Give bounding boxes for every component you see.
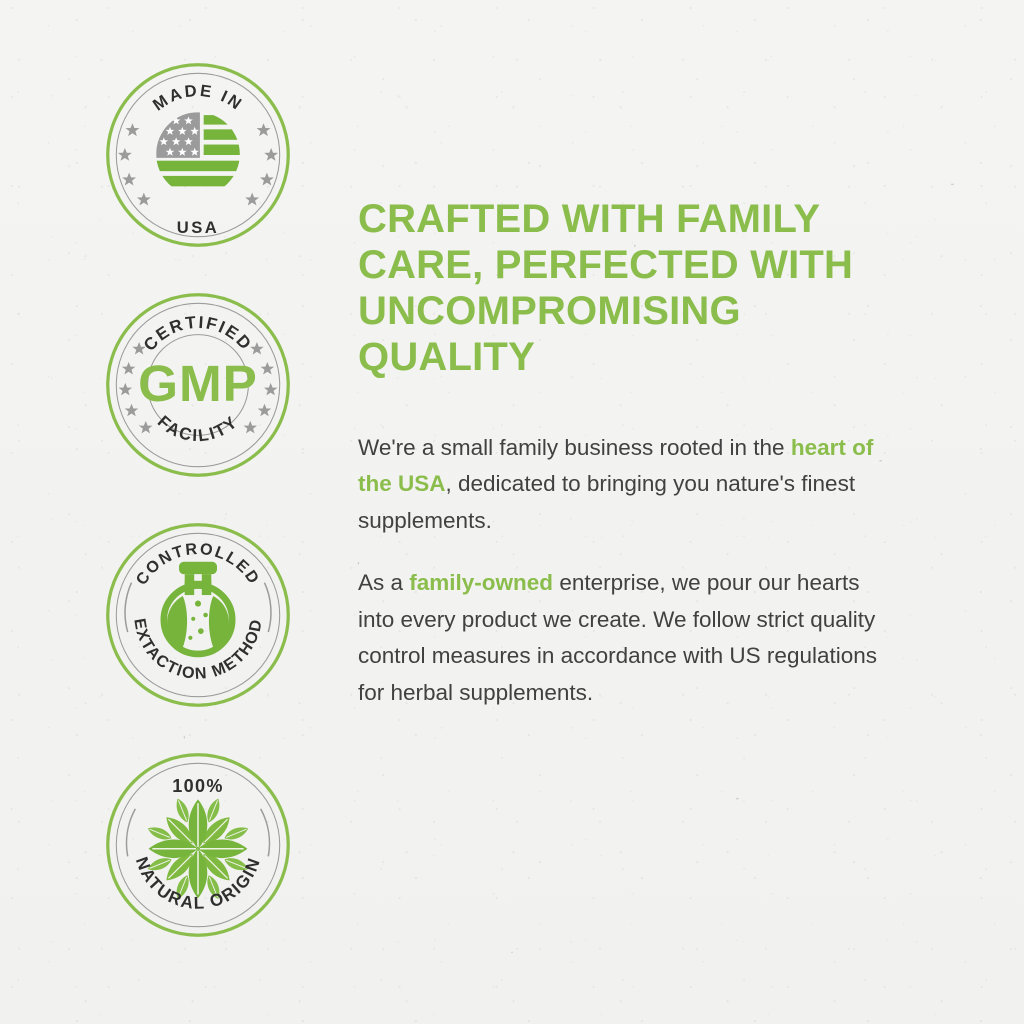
decorative-arc-left <box>125 583 131 632</box>
badge-bottom-label: USA <box>176 218 218 237</box>
headline-line-2: CARE, PERFECTED WITH <box>358 243 853 287</box>
body-copy: We're a small family business rooted in … <box>358 430 918 711</box>
badge-top-label: CERTIFIED <box>139 313 255 355</box>
badge-bottom-label: EXTACTION METHOD <box>130 617 266 683</box>
headline-line-4: QUALITY <box>358 335 535 379</box>
certification-badge-column: MADE IN USA <box>90 60 305 940</box>
paragraph-two-highlight: family-owned <box>409 570 553 595</box>
decorative-arc-right <box>260 809 269 857</box>
badge-gmp-certified-facility[interactable]: CERTIFIED GMP FACILITY <box>103 290 293 480</box>
page-headline: CRAFTED WITH FAMILY CARE, PERFECTED WITH… <box>358 196 918 380</box>
decorative-arc-left <box>126 809 135 857</box>
us-flag-circle-icon <box>150 108 245 203</box>
headline-line-3: UNCOMPROMISING <box>358 289 741 333</box>
paragraph-one-text-a: We're a small family business rooted in … <box>358 435 791 460</box>
headline-line-1: CRAFTED WITH FAMILY <box>358 197 820 241</box>
page-layout: MADE IN USA <box>0 0 1024 1024</box>
paragraph-two-text-a: As a <box>358 570 409 595</box>
badge-bottom-label: FACILITY <box>153 412 241 446</box>
decorative-arc-right <box>264 583 270 632</box>
badge-controlled-extraction-method[interactable]: CONTROLLED EXTACTION METHOD <box>103 520 293 710</box>
paragraph-one: We're a small family business rooted in … <box>358 430 878 539</box>
badge-center-label: GMP <box>138 355 258 412</box>
badge-made-in-usa[interactable]: MADE IN USA <box>103 60 293 250</box>
badge-natural-origin[interactable]: 100% NATURAL ORIGIN <box>103 750 293 940</box>
content-column: CRAFTED WITH FAMILY CARE, PERFECTED WITH… <box>358 196 918 711</box>
paragraph-two: As a family-owned enterprise, we pour ou… <box>358 565 878 711</box>
flask-leaf-icon <box>163 562 231 654</box>
badge-top-label: MADE IN <box>149 81 247 115</box>
badge-top-label: 100% <box>172 776 223 796</box>
